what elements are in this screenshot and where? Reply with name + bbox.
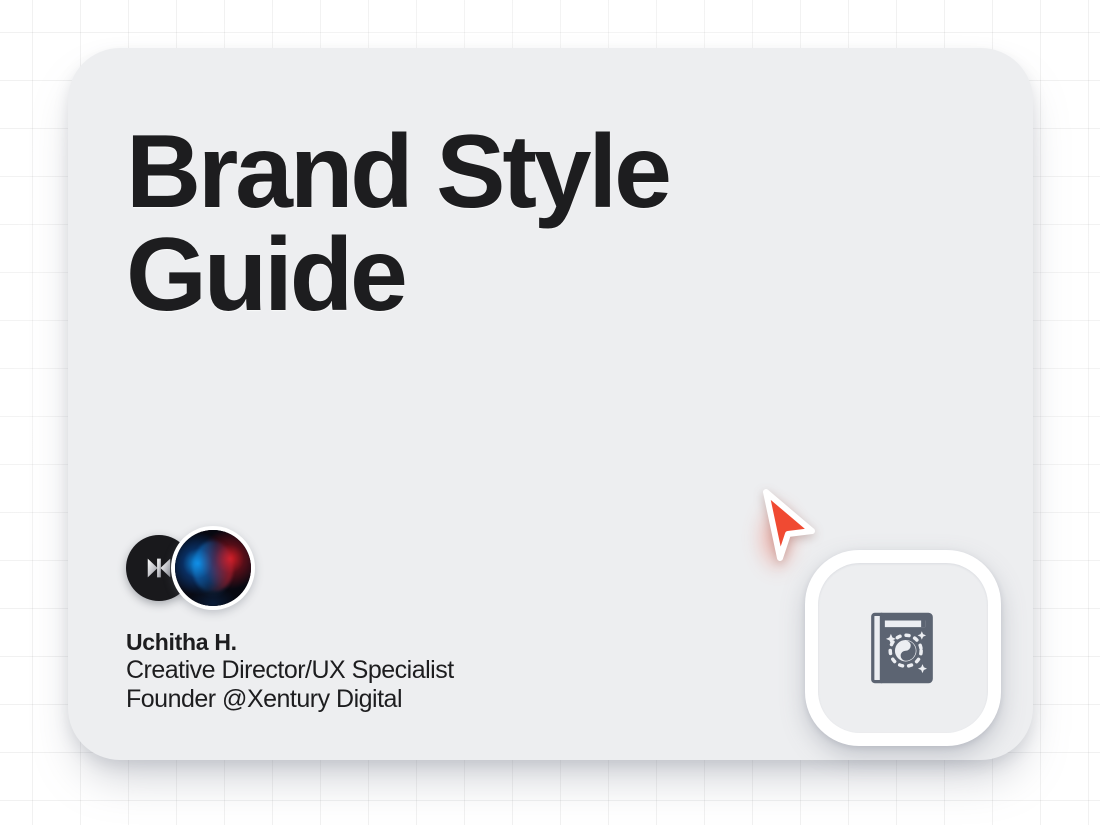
profile-block: Uchitha H. Creative Director/UX Speciali… — [126, 526, 454, 714]
avatar-image — [175, 530, 251, 606]
avatar-group — [126, 526, 454, 610]
avatar[interactable] — [171, 526, 255, 610]
profile-name: Uchitha H. — [126, 629, 454, 656]
slide-canvas: Brand Style Guide — [0, 0, 1100, 825]
page-title: Brand Style Guide — [126, 121, 806, 328]
profile-role-secondary: Founder @Xentury Digital — [126, 685, 454, 714]
profile-role-primary: Creative Director/UX Specialist — [126, 656, 454, 685]
spell-book-icon — [860, 605, 946, 691]
bowtie-mark-icon — [144, 553, 174, 583]
spell-book-button[interactable] — [805, 550, 1001, 746]
spell-book-button-inner — [818, 563, 988, 733]
slide-card: Brand Style Guide — [68, 48, 1033, 760]
